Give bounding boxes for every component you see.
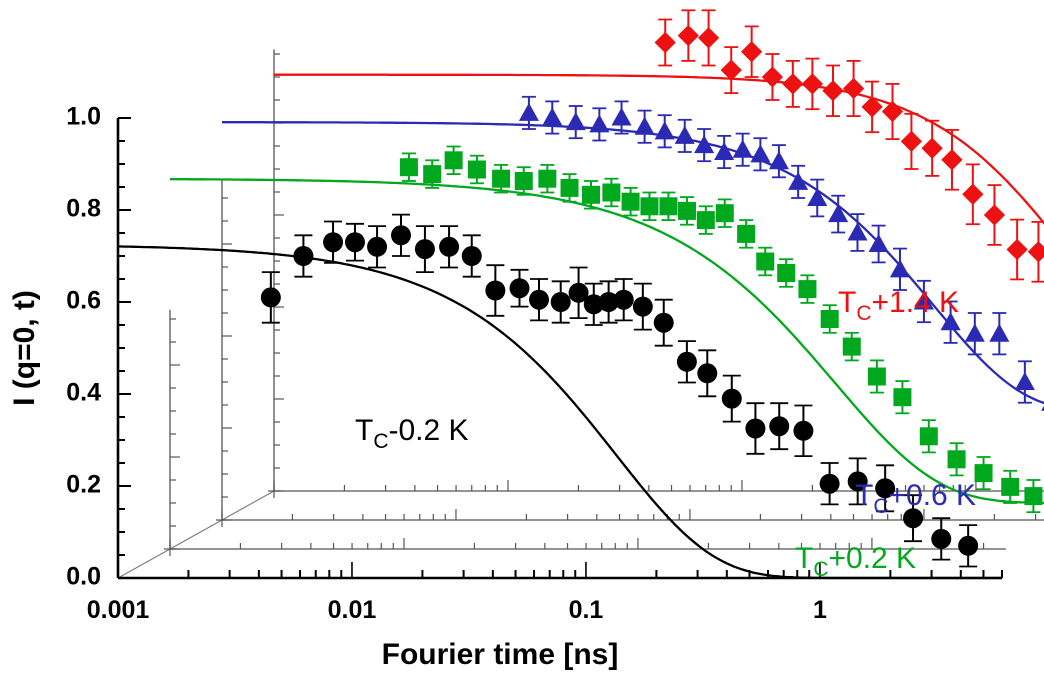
data-point	[655, 121, 675, 139]
data-point	[882, 101, 903, 122]
data-point	[675, 126, 695, 144]
y-axis-title: I (q=0, t)	[8, 290, 41, 406]
data-point	[802, 73, 823, 94]
data-point	[602, 184, 620, 202]
data-point	[655, 32, 676, 53]
data-point	[519, 103, 539, 121]
series-triangle	[222, 97, 1044, 426]
data-point	[582, 186, 600, 204]
data-point	[622, 193, 640, 211]
data-point	[741, 41, 762, 62]
data-point	[822, 80, 843, 101]
series-circle	[118, 215, 1002, 578]
data-point	[542, 107, 562, 125]
data-point	[893, 388, 911, 406]
data-point	[762, 66, 783, 87]
data-point	[1024, 487, 1042, 505]
data-point	[807, 188, 827, 206]
data-point	[777, 264, 795, 282]
data-point	[391, 225, 411, 245]
y-tick-label: 0.4	[66, 379, 101, 407]
data-point	[415, 239, 435, 259]
data-point	[654, 313, 674, 333]
series-annotation-green: TC+0.2 K	[795, 542, 916, 581]
labels-layer: 0.00.20.40.60.81.00.0010.010.11Fourier t…	[8, 103, 976, 671]
data-point	[678, 202, 696, 220]
data-point	[510, 278, 530, 298]
data-point	[737, 225, 755, 243]
data-point	[843, 338, 861, 356]
data-point	[716, 204, 734, 222]
data-point	[492, 170, 510, 188]
data-point	[697, 211, 715, 229]
x-tick-label: 0.01	[328, 596, 377, 624]
scatter-plot: 0.00.20.40.60.81.00.0010.010.11Fourier t…	[0, 0, 1044, 684]
data-point	[468, 161, 486, 179]
data-point	[769, 416, 789, 436]
data-point	[920, 427, 938, 445]
data-point	[293, 246, 313, 266]
x-axis-title: Fourier time [ns]	[382, 638, 619, 671]
data-point	[756, 253, 774, 271]
data-point	[989, 324, 1009, 342]
data-point	[561, 179, 579, 197]
data-point	[931, 529, 951, 549]
series-annotation-black: TC-0.2 K	[355, 414, 469, 453]
y-tick-label: 0.0	[66, 563, 101, 591]
data-point	[941, 149, 962, 170]
data-point	[1001, 478, 1019, 496]
data-point	[958, 536, 978, 556]
data-point	[529, 290, 549, 310]
y-tick-label: 0.2	[66, 471, 101, 499]
data-point	[659, 197, 677, 215]
data-point	[635, 117, 655, 135]
data-point	[566, 112, 586, 130]
data-point	[698, 27, 719, 48]
data-point	[400, 158, 418, 176]
data-point	[367, 237, 387, 257]
data-point	[733, 140, 753, 158]
data-point	[589, 114, 609, 132]
data-point	[462, 246, 482, 266]
data-point	[678, 25, 699, 46]
data-point	[515, 172, 533, 190]
data-point	[1015, 372, 1035, 390]
data-point	[922, 138, 943, 159]
data-point	[901, 131, 922, 152]
series-square	[170, 147, 1044, 513]
data-point	[798, 280, 816, 298]
data-point	[538, 170, 556, 188]
data-point	[890, 259, 910, 277]
fit-curve	[170, 179, 1044, 503]
data-point	[750, 144, 770, 162]
y-tick-label: 1.0	[66, 103, 101, 131]
data-point	[948, 450, 966, 468]
data-point	[975, 464, 993, 482]
y-tick-label: 0.8	[66, 195, 101, 223]
data-point	[984, 204, 1005, 225]
data-point	[345, 232, 365, 252]
y-tick-label: 0.6	[66, 287, 101, 315]
data-point	[868, 368, 886, 386]
x-tick-label: 0.1	[569, 596, 604, 624]
fit-curve	[222, 122, 1044, 411]
data-point	[633, 297, 653, 317]
data-point	[745, 419, 765, 439]
data-point	[445, 151, 463, 169]
data-point	[820, 474, 840, 494]
data-point	[769, 151, 789, 169]
data-point	[640, 197, 658, 215]
data-point	[828, 204, 848, 222]
data-point	[821, 310, 839, 328]
data-point	[551, 292, 571, 312]
data-point	[1007, 239, 1028, 260]
x-tick-label: 1	[813, 596, 827, 624]
data-point	[439, 237, 459, 257]
data-point	[261, 287, 281, 307]
data-point	[722, 389, 742, 409]
x-tick-label: 0.001	[87, 596, 150, 624]
data-point	[1028, 241, 1044, 262]
data-point	[782, 73, 803, 94]
data-point	[423, 165, 441, 183]
data-point	[697, 363, 717, 383]
data-point	[612, 107, 632, 125]
data-point	[677, 352, 697, 372]
data-point	[614, 290, 634, 310]
data-point	[323, 232, 343, 252]
figure-root: 0.00.20.40.60.81.00.0010.010.11Fourier t…	[0, 0, 1044, 684]
data-point	[965, 324, 985, 342]
series-annotation-red: TC+1.4 K	[838, 286, 959, 325]
data-point	[847, 222, 867, 240]
data-point	[962, 184, 983, 205]
data-point	[793, 421, 813, 441]
data-point	[485, 281, 505, 301]
